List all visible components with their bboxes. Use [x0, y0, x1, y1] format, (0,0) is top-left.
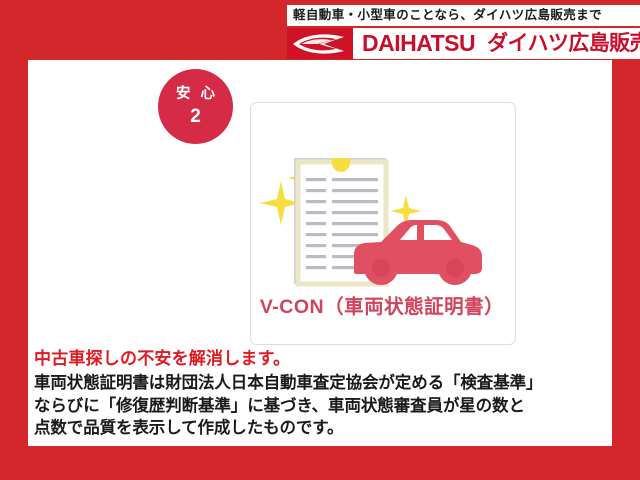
- brand-jp-text: ダイハツ広島販売: [475, 33, 640, 54]
- header-tagline-box: 軽自動車・小型車のことなら、ダイハツ広島販売まで: [287, 5, 640, 26]
- advertisement-page: 軽自動車・小型車のことなら、ダイハツ広島販売まで DAIHATSU ダイハツ広島…: [0, 0, 640, 480]
- anshin-badge-label: 安 心: [173, 87, 218, 102]
- header-banner: 軽自動車・小型車のことなら、ダイハツ広島販売まで DAIHATSU ダイハツ広島…: [0, 0, 640, 59]
- description-body: 車両状態証明書は財団法人日本自動車査定協会が定める「検査基準」 ならびに「修復歴…: [34, 372, 608, 440]
- description-line-1: 車両状態証明書は財団法人日本自動車査定協会が定める「検査基準」: [34, 372, 608, 395]
- description-headline: 中古車探しの不安を解消します。: [34, 348, 608, 371]
- brand-latin-text: DAIHATSU: [353, 32, 475, 55]
- anshin-badge-number: 2: [190, 107, 201, 126]
- description-line-2: ならびに「修復歴判断基準」に基づき、車両状態審査員が星の数と: [34, 395, 608, 418]
- header-tagline-text: 軽自動車・小型車のことなら、ダイハツ広島販売まで: [287, 9, 602, 22]
- brand-name-block: DAIHATSU ダイハツ広島販売: [353, 28, 640, 59]
- daihatsu-d-mark-icon: [287, 28, 353, 59]
- vcon-illustration: [250, 142, 514, 292]
- vcon-caption: V-CON（車両状態証明書）: [250, 298, 514, 318]
- description-block: 中古車探しの不安を解消します。 車両状態証明書は財団法人日本自動車査定協会が定め…: [34, 348, 608, 440]
- anshin-badge: 安 心 2: [158, 69, 233, 144]
- description-line-3: 点数で品質を表示して作成したものです。: [34, 417, 608, 440]
- content-card: 安 心 2: [28, 60, 612, 446]
- brand-logo-row: DAIHATSU ダイハツ広島販売: [287, 28, 640, 59]
